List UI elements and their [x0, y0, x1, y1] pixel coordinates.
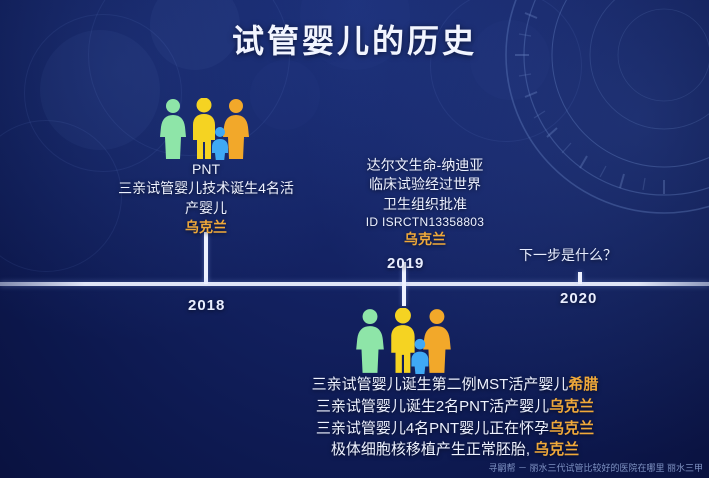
darwin-line2: 临床试验经过世界 [325, 175, 525, 194]
page-title: 试管婴儿的历史 [0, 16, 709, 62]
bottom-line-4-text: 极体细胞核移植产生正常胚胎, [331, 441, 530, 458]
bottom-line-3-country: 乌克兰 [549, 420, 594, 437]
bottom-line-4: 极体细胞核移植产生正常胚胎, 乌克兰 [270, 439, 640, 461]
bottom-line-1-text: 三亲试管婴儿诞生第二例MST活产婴儿 [312, 376, 569, 393]
bottom-line-1-country: 希腊 [568, 376, 598, 393]
family-group-icon-top [157, 98, 253, 165]
event-block-bottom-list: 三亲试管婴儿诞生第二例MST活产婴儿希腊 三亲试管婴儿诞生2名PNT活产婴儿乌克… [270, 374, 640, 461]
timeline-year-2018: 2018 [188, 297, 225, 314]
darwin-line1: 达尔文生命-纳迪亚 [325, 156, 525, 175]
bottom-line-2-country: 乌克兰 [549, 398, 594, 415]
pnt-line2: 三亲试管婴儿技术诞生4名活 [92, 179, 320, 198]
bottom-line-3-text: 三亲试管婴儿4名PNT婴儿正在怀孕 [316, 420, 549, 437]
timeline-tick-2020 [578, 272, 582, 284]
darwin-country: 乌克兰 [325, 230, 525, 249]
pnt-country: 乌克兰 [92, 218, 320, 237]
family-group-icon-bottom [353, 308, 455, 379]
timeline-axis [0, 282, 709, 286]
timeline-year-2020: 2020 [560, 290, 597, 307]
timeline-year-2019: 2019 [387, 255, 424, 272]
darwin-trial-id: ID ISRCTN13358803 [325, 214, 525, 231]
darwin-line3: 卫生组织批准 [325, 195, 525, 214]
pnt-line3: 产婴儿 [92, 199, 320, 218]
event-block-pnt-2018: PNT 三亲试管婴儿技术诞生4名活 产婴儿 乌克兰 [92, 160, 320, 237]
event-block-darwin-2019: 达尔文生命-纳迪亚 临床试验经过世界 卫生组织批准 ID ISRCTN13358… [325, 156, 525, 250]
bottom-line-2: 三亲试管婴儿诞生2名PNT活产婴儿乌克兰 [270, 396, 640, 418]
timeline-connector-2018 [204, 232, 208, 284]
bottom-line-3: 三亲试管婴儿4名PNT婴儿正在怀孕乌克兰 [270, 418, 640, 440]
slide-canvas: 试管婴儿的历史 PNT 三亲试管婴儿技术诞生4名活 [0, 0, 709, 478]
bottom-line-2-text: 三亲试管婴儿诞生2名PNT活产婴儿 [316, 398, 549, 415]
bottom-line-1: 三亲试管婴儿诞生第二例MST活产婴儿希腊 [270, 374, 640, 396]
pnt-label: PNT [92, 160, 320, 179]
watermark-text: 寻嗣帮 － 丽水三代试管比较好的医院在哪里 丽水三甲 [488, 461, 703, 474]
bottom-line-4-country: 乌克兰 [534, 441, 579, 458]
next-step-label: 下一步是什么？ [519, 245, 617, 265]
